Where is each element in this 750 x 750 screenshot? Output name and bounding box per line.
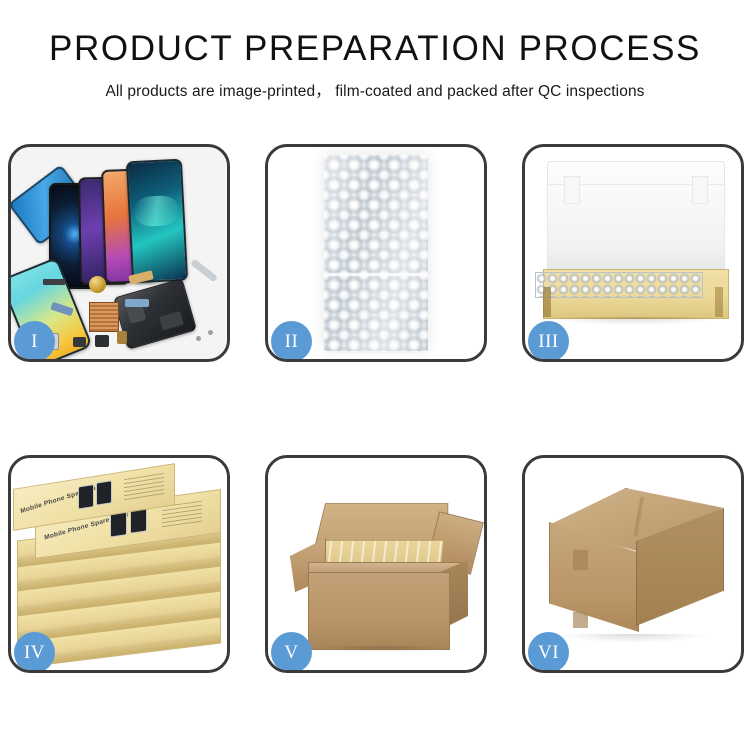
- sealed-carton-shadow: [559, 634, 709, 643]
- carton-handle-tab-upper: [573, 550, 588, 570]
- carton-shadow: [316, 646, 448, 653]
- phone-teal-screen: [126, 159, 188, 284]
- process-step-card-4: Mobile Phone Spare Parts Mobile Phone Sp…: [8, 455, 230, 673]
- page-title: PRODUCT PREPARATION PROCESS: [0, 28, 750, 70]
- bubble-wrap-sheen: [324, 155, 428, 351]
- retail-box-thumb-back-a: [78, 484, 94, 510]
- process-step-card-1: I: [8, 144, 230, 362]
- part-connector-bar: [43, 279, 65, 285]
- process-step-card-3: III: [522, 144, 744, 362]
- part-chip-dark-b: [95, 335, 109, 347]
- step-badge-6: VI: [528, 632, 569, 673]
- part-chip-gold: [117, 331, 127, 344]
- step-badge-3: III: [528, 321, 569, 362]
- inner-box-shadow: [547, 317, 723, 325]
- part-screw-a: [196, 336, 201, 341]
- retail-box-thumb-back-b: [96, 480, 112, 506]
- part-flex-cable-blue: [125, 299, 149, 307]
- step-badge-2: II: [271, 321, 312, 362]
- process-step-card-6: VI: [522, 455, 744, 673]
- step-badge-5: V: [271, 632, 312, 673]
- part-tweezers: [190, 259, 218, 283]
- part-screw-b: [208, 330, 213, 335]
- page-subtitle: All products are image-printed， film-coa…: [0, 79, 750, 101]
- step-badge-1: I: [14, 321, 55, 362]
- carton-handle-tab-lower: [573, 612, 588, 628]
- lid-tab-right: [692, 176, 708, 204]
- open-shipping-carton: [290, 488, 470, 652]
- tray-edge-left: [543, 287, 551, 317]
- part-speaker-coil: [89, 276, 106, 293]
- bubble-wrapped-package: [324, 155, 428, 351]
- retail-box-spec-lines-back: [124, 473, 164, 501]
- step-badge-4: IV: [14, 632, 55, 673]
- sealed-shipping-carton: [539, 488, 733, 648]
- carton-front-panel: [308, 572, 450, 650]
- process-step-grid: I II: [8, 144, 742, 673]
- tray-edge-right: [715, 287, 723, 317]
- part-copper-mesh: [89, 302, 119, 332]
- process-step-card-2: II: [265, 144, 487, 362]
- process-step-card-5: V: [265, 455, 487, 673]
- header: PRODUCT PREPARATION PROCESS All products…: [0, 0, 750, 101]
- lid-tab-left: [564, 176, 580, 204]
- retail-box-thumb-front-a: [110, 511, 127, 537]
- part-chip-dark-a: [73, 337, 86, 347]
- product-preparation-infographic: PRODUCT PREPARATION PROCESS All products…: [0, 0, 750, 750]
- tray-bubble-contents: [535, 272, 703, 298]
- inner-box-lid: [547, 161, 725, 275]
